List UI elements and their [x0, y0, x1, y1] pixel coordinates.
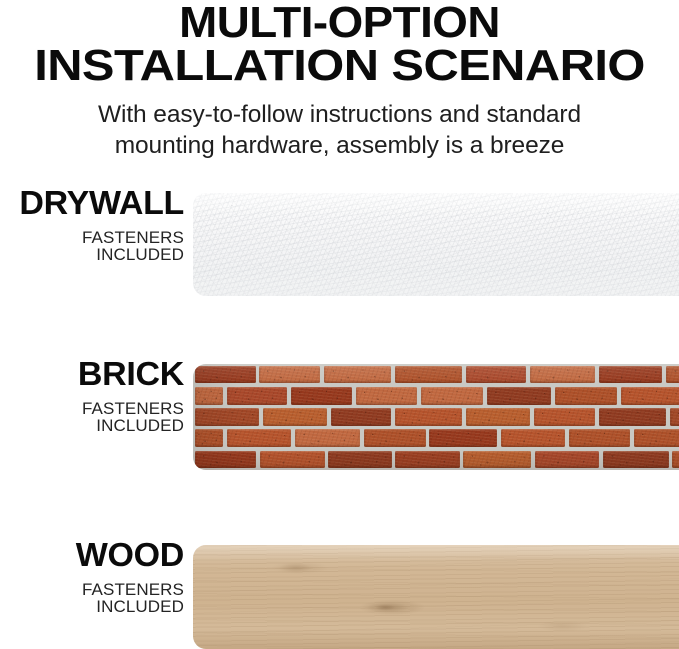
brick: [599, 408, 666, 426]
material-name-wood: WOOD: [0, 538, 184, 571]
brick: [195, 451, 256, 469]
brick: [263, 408, 327, 426]
brick: [530, 366, 595, 384]
brick: [195, 366, 256, 384]
brick: [634, 429, 679, 447]
brick: [534, 408, 595, 426]
brick: [599, 366, 662, 384]
brick: [291, 387, 352, 405]
brick: [466, 366, 527, 384]
brick: [227, 429, 292, 447]
subtitle-line-2: mounting hardware, assembly is a breeze: [0, 131, 679, 161]
section-wood: WOOD FASTENERS INCLUDED: [0, 538, 679, 649]
brick: [487, 387, 552, 405]
brick: [395, 366, 462, 384]
drywall-label-group: DRYWALL FASTENERS INCLUDED: [0, 186, 186, 263]
brick: [324, 366, 392, 384]
section-brick: BRICK FASTENERS INCLUDED: [0, 357, 679, 471]
subtitle: With easy-to-follow instructions and sta…: [0, 100, 679, 161]
subtitle-line-1: With easy-to-follow instructions and sta…: [0, 100, 679, 130]
fasteners-note-wood: FASTENERS INCLUDED: [0, 581, 184, 615]
brick: [421, 387, 483, 405]
brick: [501, 429, 565, 447]
brick-row: [193, 406, 679, 427]
installation-scenario-graphic: MULTI-OPTION INSTALLATION SCENARIO With …: [0, 0, 679, 649]
brick: [621, 387, 679, 405]
brick: [670, 408, 679, 426]
brick-row: [193, 428, 679, 449]
section-drywall: DRYWALL FASTENERS INCLUDED: [0, 186, 679, 298]
brick: [535, 451, 599, 469]
brick: [356, 387, 417, 405]
brick: [555, 387, 617, 405]
brick-label-group: BRICK FASTENERS INCLUDED: [0, 357, 186, 434]
brick: [395, 408, 462, 426]
brick: [331, 408, 391, 426]
brick-row: [193, 385, 679, 406]
brick: [295, 429, 360, 447]
brick: [603, 451, 669, 469]
brick: [195, 408, 259, 426]
brick: [463, 451, 531, 469]
fasteners-note-brick: FASTENERS INCLUDED: [0, 400, 184, 434]
texture-panel-wood: [193, 545, 679, 649]
material-name-drywall: DRYWALL: [0, 186, 184, 219]
brick: [195, 429, 223, 447]
title-line-2: INSTALLATION SCENARIO: [0, 45, 679, 87]
brick-row: [193, 449, 679, 470]
brick: [260, 451, 325, 469]
page-title: MULTI-OPTION INSTALLATION SCENARIO: [0, 2, 679, 87]
brick: [429, 429, 497, 447]
wood-label-group: WOOD FASTENERS INCLUDED: [0, 538, 186, 615]
texture-panel-drywall: [193, 193, 679, 296]
brick: [227, 387, 287, 405]
texture-panel-brick: [193, 364, 679, 470]
brick-row: [193, 364, 679, 385]
brick: [466, 408, 530, 426]
title-line-1: MULTI-OPTION: [0, 2, 679, 44]
material-name-brick: BRICK: [0, 357, 184, 390]
brick: [328, 451, 391, 469]
brick: [395, 451, 459, 469]
fasteners-note-drywall: FASTENERS INCLUDED: [0, 229, 184, 263]
header-block: MULTI-OPTION INSTALLATION SCENARIO With …: [0, 0, 679, 161]
brick: [672, 451, 679, 469]
brick: [364, 429, 426, 447]
brick: [259, 366, 320, 384]
brick: [569, 429, 630, 447]
brick: [195, 387, 223, 405]
brick: [666, 366, 679, 384]
